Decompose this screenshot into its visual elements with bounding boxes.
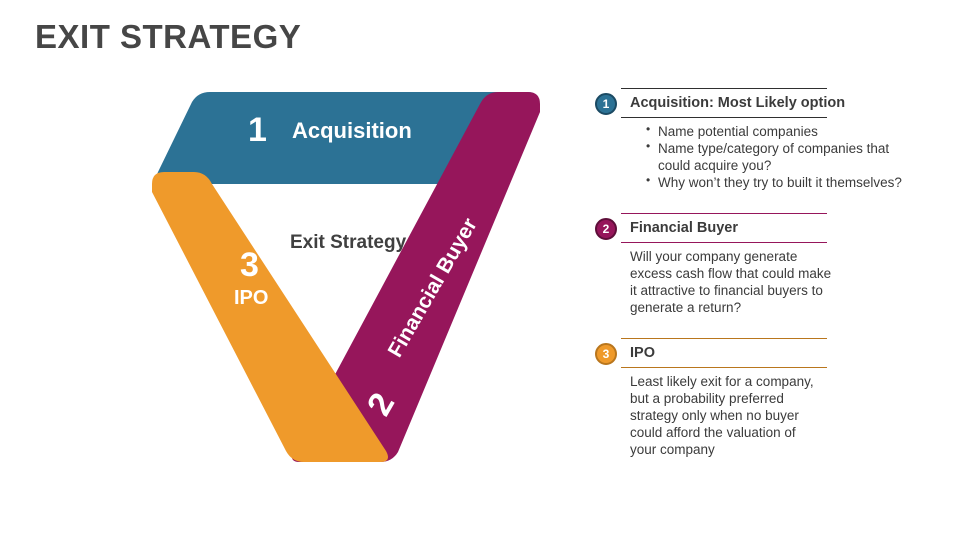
legend-paragraph: Least likely exit for a company, but a p… bbox=[630, 373, 815, 458]
legend-title-financial-buyer: Financial Buyer bbox=[630, 220, 738, 236]
diagram-label-ipo-name: IPO bbox=[234, 287, 268, 310]
badge-1: 1 bbox=[595, 93, 617, 115]
legend-header-acquisition: 1 Acquisition: Most Likely option bbox=[595, 88, 915, 118]
list-item: Name potential companies bbox=[646, 123, 915, 140]
legend-title-acquisition: Acquisition: Most Likely option bbox=[630, 95, 845, 111]
diagram-label-acquisition-name: Acquisition bbox=[292, 118, 412, 144]
badge-3: 3 bbox=[595, 343, 617, 365]
legend-panel: 1 Acquisition: Most Likely option Name p… bbox=[595, 88, 915, 474]
list-item: Name type/category of companies that cou… bbox=[646, 140, 915, 174]
rule-bottom bbox=[621, 242, 827, 243]
exit-strategy-triangle-diagram: 1 Acquisition 2 Financial Buyer 3 IPO Ex… bbox=[150, 80, 570, 470]
legend-body-acquisition: Name potential companies Name type/categ… bbox=[630, 123, 915, 191]
legend-header-ipo: 3 IPO bbox=[595, 338, 915, 368]
list-item: Why won’t they try to built it themselve… bbox=[646, 174, 915, 191]
rule-bottom bbox=[621, 367, 827, 368]
legend-title-ipo: IPO bbox=[630, 345, 655, 361]
legend-body-financial-buyer: Will your company generate excess cash f… bbox=[630, 248, 838, 316]
legend-body-ipo: Least likely exit for a company, but a p… bbox=[630, 373, 815, 458]
rule-top bbox=[621, 88, 827, 89]
diagram-arm-ipo[interactable] bbox=[152, 172, 388, 462]
legend-section-acquisition[interactable]: 1 Acquisition: Most Likely option Name p… bbox=[595, 88, 915, 191]
rule-top bbox=[621, 213, 827, 214]
legend-section-financial-buyer[interactable]: 2 Financial Buyer Will your company gene… bbox=[595, 213, 915, 316]
page-title: EXIT STRATEGY bbox=[35, 18, 301, 56]
diagram-label-ipo-number: 3 bbox=[240, 246, 259, 285]
rule-bottom bbox=[621, 117, 827, 118]
legend-section-ipo[interactable]: 3 IPO Least likely exit for a company, b… bbox=[595, 338, 915, 458]
diagram-center-label: Exit Strategy bbox=[290, 232, 406, 254]
legend-header-financial-buyer: 2 Financial Buyer bbox=[595, 213, 915, 243]
badge-2: 2 bbox=[595, 218, 617, 240]
rule-top bbox=[621, 338, 827, 339]
diagram-label-acquisition-number: 1 bbox=[248, 111, 267, 150]
legend-paragraph: Will your company generate excess cash f… bbox=[630, 248, 838, 316]
